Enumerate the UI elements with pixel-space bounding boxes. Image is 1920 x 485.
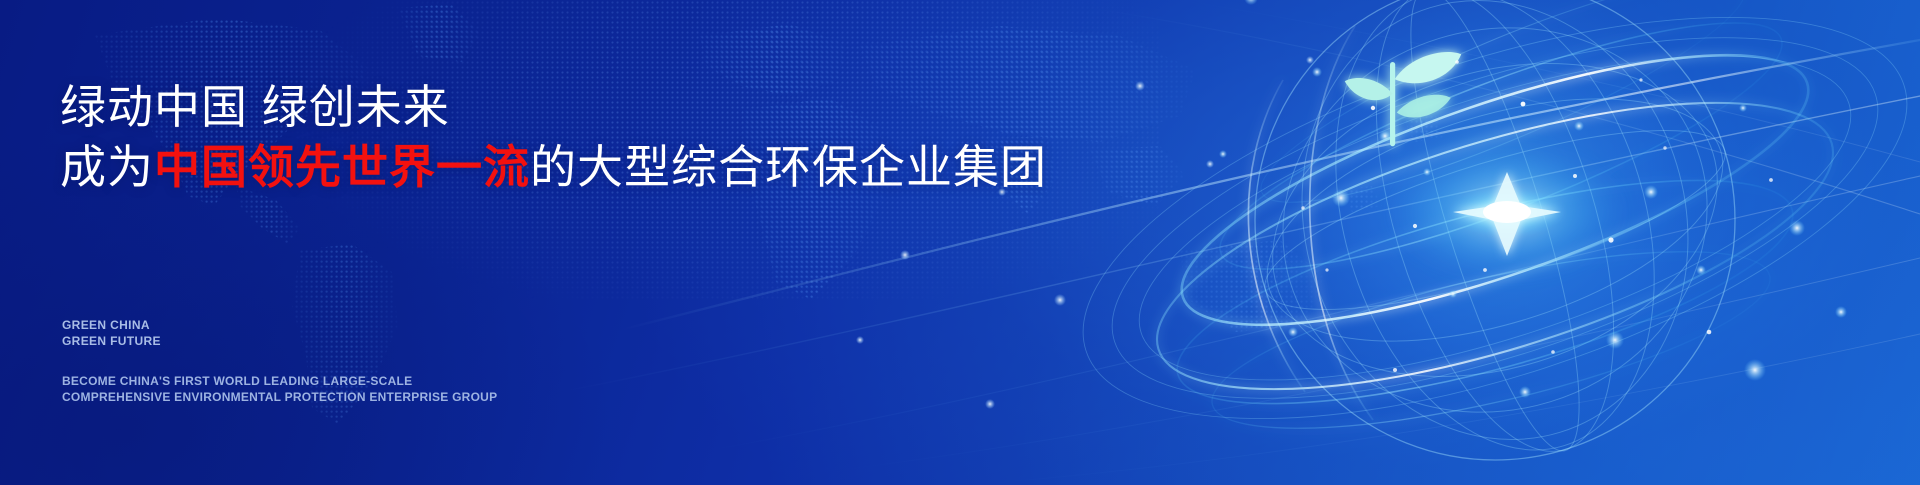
headline-highlight: 中国领先世界一流 <box>154 141 530 193</box>
slogan-line-1: GREEN CHINA <box>62 318 161 334</box>
hero-banner: 绿动中国 绿创未来 成为中国领先世界一流的大型综合环保企业集团 GREEN CH… <box>0 0 1920 485</box>
headline-line-2: 成为中国领先世界一流的大型综合环保企业集团 <box>60 138 1047 198</box>
headline-line-2-prefix: 成为 <box>60 141 154 193</box>
banner-copy: 绿动中国 绿创未来 成为中国领先世界一流的大型综合环保企业集团 GREEN CH… <box>60 0 1060 485</box>
description-line-1: BECOME CHINA'S FIRST WORLD LEADING LARGE… <box>62 374 497 390</box>
english-slogan: GREEN CHINA GREEN FUTURE <box>62 318 161 349</box>
english-description: BECOME CHINA'S FIRST WORLD LEADING LARGE… <box>62 374 497 405</box>
wireframe-globe <box>1055 0 1920 485</box>
slogan-line-2: GREEN FUTURE <box>62 334 161 350</box>
headline-line-2-suffix: 的大型综合环保企业集团 <box>530 141 1047 193</box>
description-line-2: COMPREHENSIVE ENVIRONMENTAL PROTECTION E… <box>62 390 497 406</box>
sprout-leaf-icon <box>1345 52 1461 144</box>
page-title: 绿动中国 绿创未来 成为中国领先世界一流的大型综合环保企业集团 <box>60 78 1047 198</box>
headline-line-1: 绿动中国 绿创未来 <box>60 78 1047 138</box>
